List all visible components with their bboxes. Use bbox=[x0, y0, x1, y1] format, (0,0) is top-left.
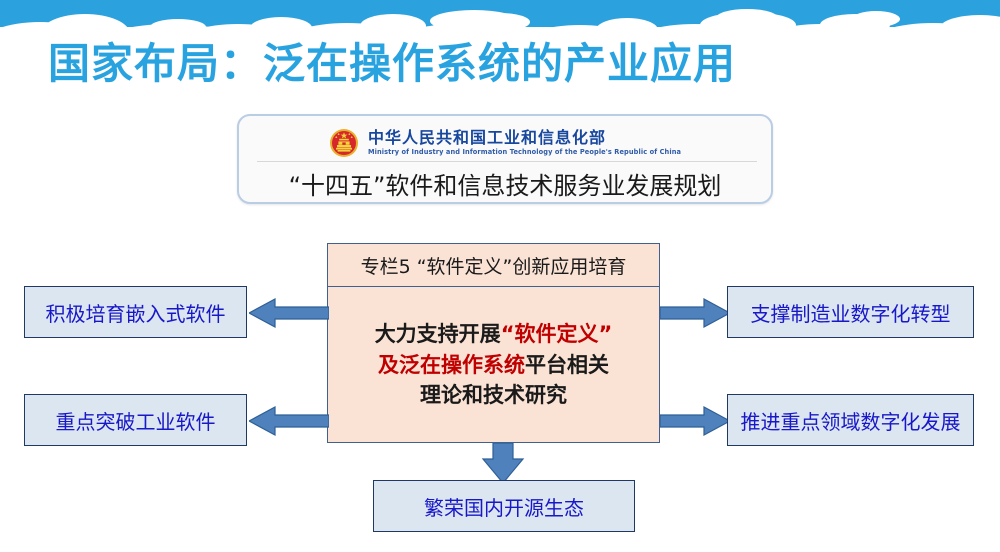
ministry-header-card: 中华人民共和国工业和信息化部 Ministry of Industry and … bbox=[237, 114, 773, 204]
arrow-left-bottom-icon bbox=[249, 405, 329, 437]
outcome-box-left-2[interactable]: 重点突破工业软件 bbox=[24, 394, 247, 446]
text-highlight: “软件定义” bbox=[501, 322, 613, 346]
text-plain: 平台相关 bbox=[525, 353, 609, 377]
arrow-right-bottom-icon bbox=[660, 405, 730, 437]
ministry-name-group: 中华人民共和国工业和信息化部 Ministry of Industry and … bbox=[368, 130, 681, 156]
card-divider bbox=[257, 161, 757, 162]
center-body-line-2: 及泛在操作系统平台相关 bbox=[375, 350, 613, 380]
outcome-box-bottom[interactable]: 繁荣国内开源生态 bbox=[373, 480, 635, 532]
plan-title: “十四五”软件和信息技术服务业发展规划 bbox=[239, 166, 771, 201]
arrow-right-top-icon bbox=[660, 297, 730, 329]
center-policy-box: 专栏5 “软件定义”创新应用培育 大力支持开展“软件定义” 及泛在操作系统平台相… bbox=[327, 243, 660, 443]
ministry-identity: 中华人民共和国工业和信息化部 Ministry of Industry and … bbox=[239, 116, 771, 164]
arrow-down-bottom-icon bbox=[480, 443, 526, 483]
center-body-line-3: 理论和技术研究 bbox=[375, 380, 613, 410]
text-highlight: 及泛在操作系统 bbox=[378, 353, 525, 377]
center-box-header: 专栏5 “软件定义”创新应用培育 bbox=[328, 244, 659, 287]
slide-canvas: 国家布局：泛在操作系统的产业应用 bbox=[0, 0, 1000, 552]
outcome-box-right-2[interactable]: 推进重点领域数字化发展 bbox=[727, 394, 974, 446]
arrow-left-top-icon bbox=[249, 297, 329, 329]
ministry-name-cn: 中华人民共和国工业和信息化部 bbox=[368, 130, 681, 146]
center-body-line-1: 大力支持开展“软件定义” bbox=[375, 319, 613, 349]
outcome-box-right-1[interactable]: 支撑制造业数字化转型 bbox=[727, 286, 974, 338]
ministry-name-en: Ministry of Industry and Information Tec… bbox=[368, 149, 681, 156]
page-title: 国家布局：泛在操作系统的产业应用 bbox=[48, 30, 736, 91]
text-plain: 理论和技术研究 bbox=[420, 383, 567, 407]
outcome-box-left-1[interactable]: 积极培育嵌入式软件 bbox=[24, 286, 247, 338]
center-box-body-text: 大力支持开展“软件定义” 及泛在操作系统平台相关 理论和技术研究 bbox=[375, 319, 613, 410]
china-national-emblem-icon bbox=[329, 128, 359, 158]
center-box-body: 大力支持开展“软件定义” 及泛在操作系统平台相关 理论和技术研究 bbox=[328, 287, 659, 443]
text-plain: 大力支持开展 bbox=[375, 322, 501, 346]
